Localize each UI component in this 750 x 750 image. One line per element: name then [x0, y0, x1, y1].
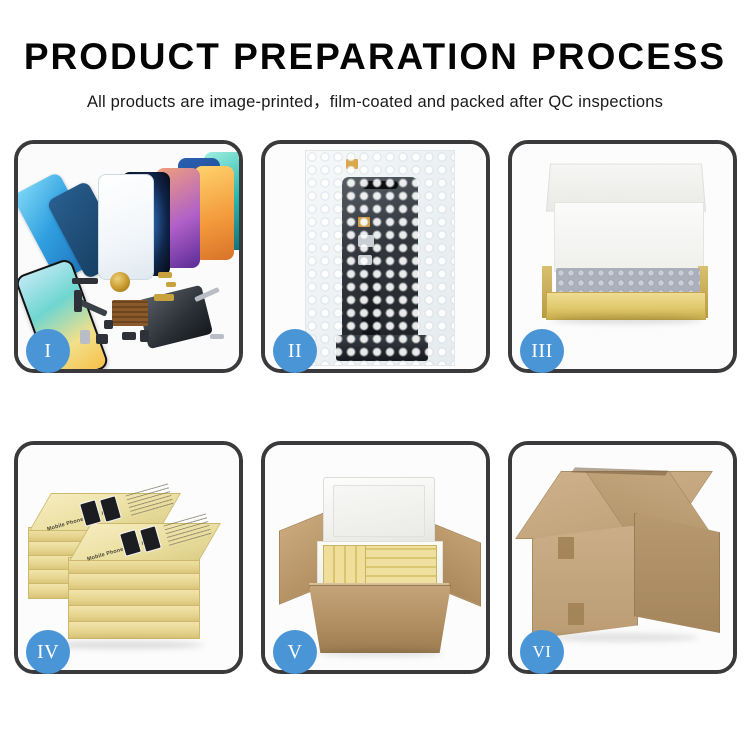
- product-preparation-process-page: PRODUCT PREPARATION PROCESS All products…: [0, 0, 750, 750]
- step-panel-6: VI: [508, 441, 737, 674]
- step-panel-3: III: [508, 140, 737, 373]
- step-badge-5: V: [273, 630, 317, 674]
- step-panel-5: V: [261, 441, 490, 674]
- process-steps-grid: I: [14, 140, 736, 674]
- page-header: PRODUCT PREPARATION PROCESS All products…: [0, 0, 750, 112]
- step-badge-4: IV: [26, 630, 70, 674]
- step-panel-2: II: [261, 140, 490, 373]
- page-title: PRODUCT PREPARATION PROCESS: [0, 38, 750, 77]
- step-panel-1: I: [14, 140, 243, 373]
- step-badge-1: I: [26, 329, 70, 373]
- step-badge-2: II: [273, 329, 317, 373]
- step-badge-6: VI: [520, 630, 564, 674]
- step-badge-3: III: [520, 329, 564, 373]
- page-subtitle: All products are image-printed，film-coat…: [0, 88, 750, 112]
- step-panel-4: Mobile Phone Spare Parts Mobile Phone Sp…: [14, 441, 243, 674]
